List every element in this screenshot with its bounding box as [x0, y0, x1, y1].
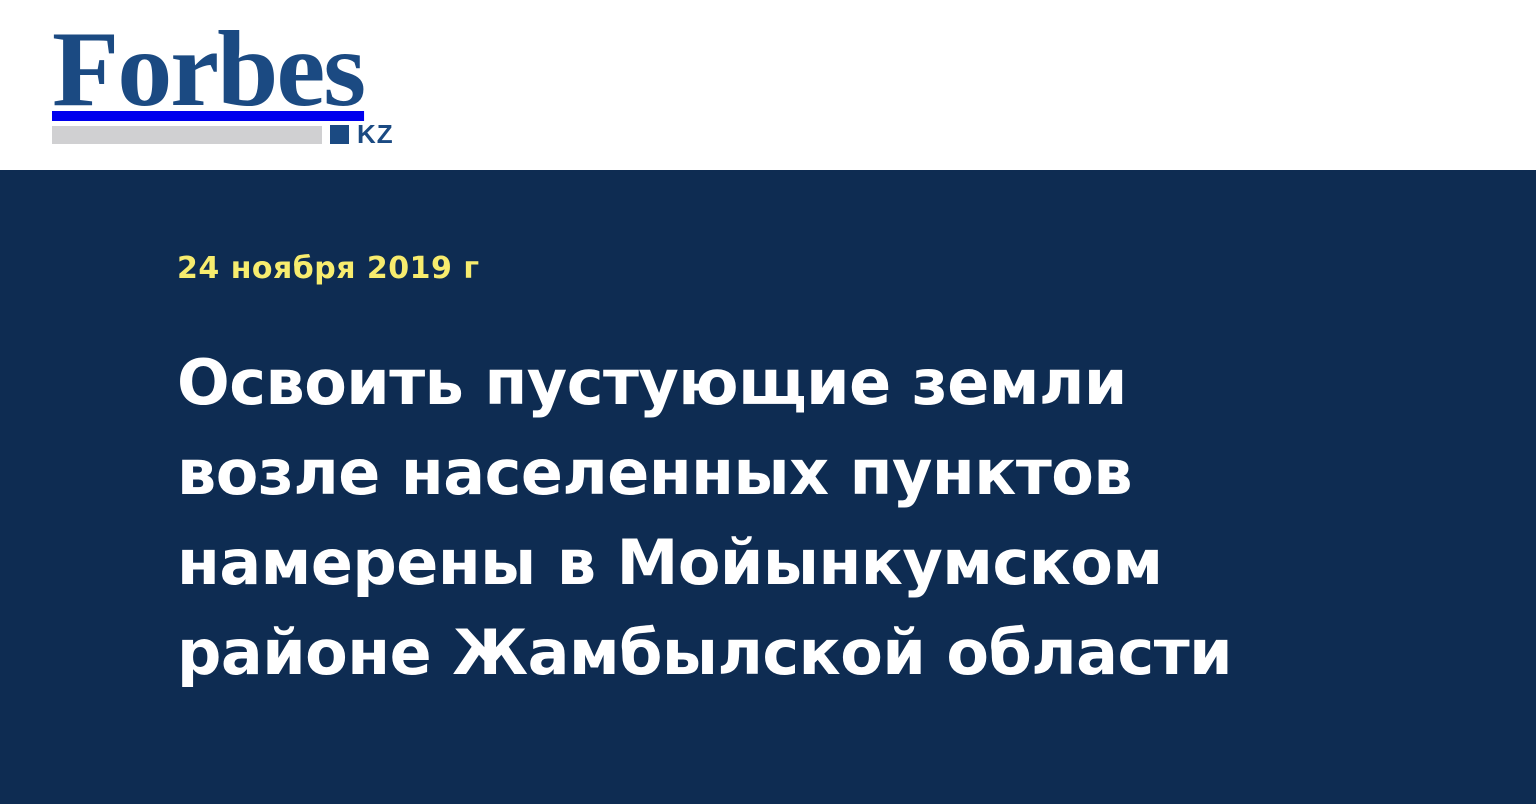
- site-header: Forbes KZ: [0, 0, 1536, 170]
- logo-gray-bar: [52, 126, 322, 144]
- article-title: Освоить пустующие земли возле населенных…: [177, 286, 1337, 698]
- logo-kz-label: KZ: [357, 125, 394, 144]
- forbes-wordmark: Forbes: [52, 22, 419, 118]
- article-hero-content: 24 ноября 2019 г Освоить пустующие земли…: [177, 170, 1357, 698]
- article-date: 24 ноября 2019 г: [177, 170, 1357, 286]
- article-hero: 24 ноября 2019 г Освоить пустующие земли…: [0, 170, 1536, 804]
- blue-square-icon: [330, 125, 349, 144]
- logo-underline: KZ: [52, 125, 412, 144]
- forbes-kz-logo[interactable]: Forbes KZ: [52, 22, 412, 147]
